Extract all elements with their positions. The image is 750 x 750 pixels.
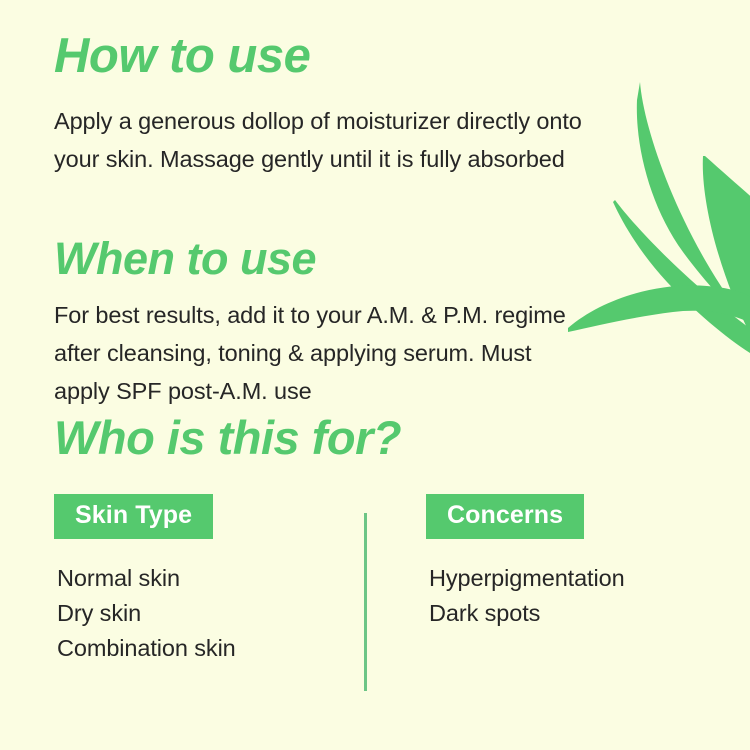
badge-skin-type: Skin Type xyxy=(54,494,213,539)
heading-who-is-this-for: Who is this for? xyxy=(54,414,401,461)
badge-concerns: Concerns xyxy=(426,494,584,539)
column-concerns: Concerns Hyperpigmentation Dark spots xyxy=(426,494,625,631)
list-item: Hyperpigmentation xyxy=(429,561,625,596)
list-item: Dry skin xyxy=(57,596,236,631)
column-divider xyxy=(364,513,367,691)
list-item: Combination skin xyxy=(57,631,236,666)
list-item: Dark spots xyxy=(429,596,625,631)
audience-columns: Skin Type Normal skin Dry skin Combinati… xyxy=(0,494,750,714)
list-concerns: Hyperpigmentation Dark spots xyxy=(429,561,625,631)
heading-when-to-use: When to use xyxy=(54,236,316,281)
paragraph-how-to-use: Apply a generous dollop of moisturizer d… xyxy=(54,102,614,178)
heading-how-to-use: How to use xyxy=(54,32,310,81)
list-item: Normal skin xyxy=(57,561,236,596)
paragraph-when-to-use: For best results, add it to your A.M. & … xyxy=(54,296,574,410)
infographic-card: How to use Apply a generous dollop of mo… xyxy=(0,0,750,750)
column-skin-type: Skin Type Normal skin Dry skin Combinati… xyxy=(54,494,236,666)
list-skin-type: Normal skin Dry skin Combination skin xyxy=(57,561,236,666)
